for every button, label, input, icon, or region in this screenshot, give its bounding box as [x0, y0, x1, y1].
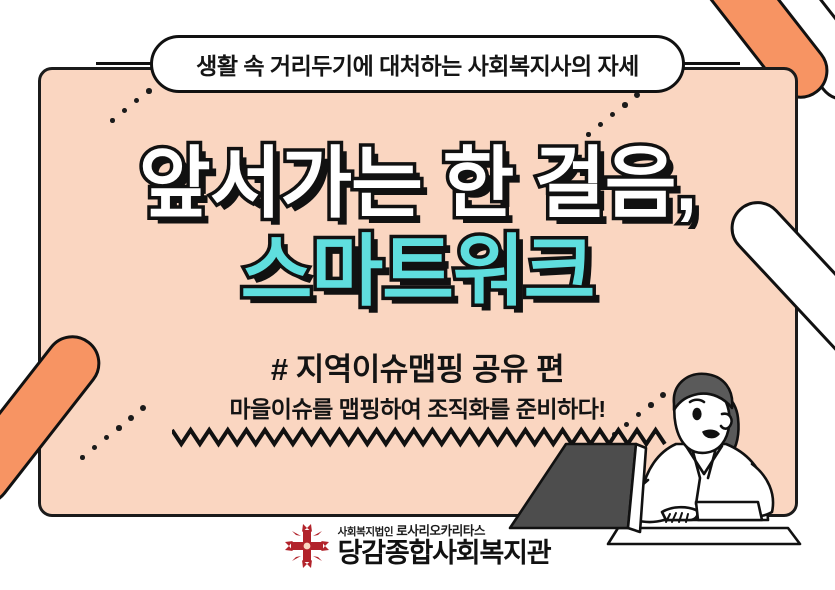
footer-center-name: 당감종합사회복지관: [338, 540, 551, 567]
header-badge-label: 생활 속 거리두기에 대처하는 사회복지사의 자세: [196, 47, 639, 81]
woman-working-on-laptop-illustration: [500, 352, 820, 552]
footer-org-name: 로사리오카리타스: [396, 524, 485, 538]
footer-logo: 사회복지법인 로사리오카리타스 당감종합사회복지관: [0, 524, 835, 568]
header-rule-right: [678, 62, 740, 65]
header-rule-left: [96, 62, 158, 65]
header-badge: 생활 속 거리두기에 대처하는 사회복지사의 자세: [150, 35, 685, 93]
footer-logo-text: 사회복지법인 로사리오카리타스 당감종합사회복지관: [338, 525, 551, 568]
footer-org-line: 사회복지법인 로사리오카리타스: [338, 525, 551, 538]
footer-org-prefix: 사회복지법인: [338, 526, 394, 538]
caritas-cross-icon: [285, 524, 329, 568]
poster-canvas: 생활 속 거리두기에 대처하는 사회복지사의 자세 앞서가는 한 걸음, 스마트…: [0, 0, 835, 590]
